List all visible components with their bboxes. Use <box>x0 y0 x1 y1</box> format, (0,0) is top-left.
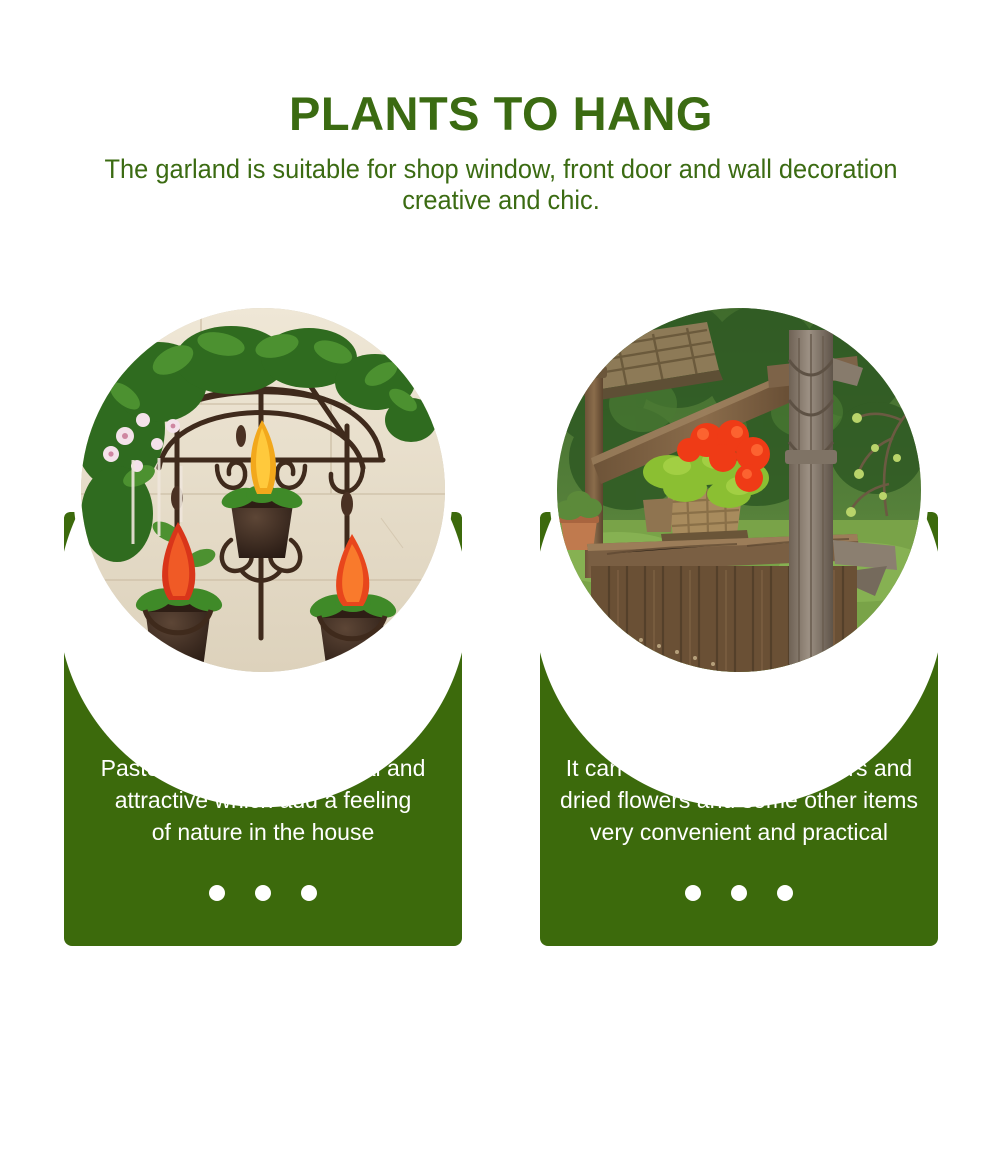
pagination-dot[interactable] <box>685 885 701 901</box>
subtitle-line-1: The garland is suitable for shop window,… <box>105 154 898 184</box>
feature-card-store-flowers: It can store both fresh flowers and drie… <box>540 300 938 946</box>
card-caption: Pastoral style, more natural and attract… <box>78 752 448 848</box>
pagination-dot[interactable] <box>777 885 793 901</box>
card-caption: It can store both fresh flowers and drie… <box>554 752 924 848</box>
header: PLANTS TO HANG The garland is suitable f… <box>0 0 1002 216</box>
subtitle-line-2: creative and chic. <box>402 185 600 215</box>
card-photo-wrought-iron-trellis <box>81 308 445 672</box>
card-panel-fill <box>540 914 938 1158</box>
caption-line-2: dried flowers and some other items <box>554 784 924 816</box>
caption-line-1: Pastoral style, more natural and <box>78 752 448 784</box>
pagination-dot[interactable] <box>301 885 317 901</box>
caption-line-3: of nature in the house <box>78 816 448 848</box>
page-subtitle: The garland is suitable for shop window,… <box>30 140 972 216</box>
pagination-dot[interactable] <box>731 885 747 901</box>
caption-line-2: attractive which add a feeling <box>78 784 448 816</box>
caption-line-1: It can store both fresh flowers and <box>554 752 924 784</box>
card-photo-wooden-railing-basket <box>557 308 921 672</box>
page-title: PLANTS TO HANG <box>0 0 1002 140</box>
pagination-dots[interactable] <box>540 885 938 901</box>
caption-line-3: very convenient and practical <box>554 816 924 848</box>
feature-card-pastoral-style: Pastoral style, more natural and attract… <box>64 300 462 946</box>
product-infographic: PLANTS TO HANG The garland is suitable f… <box>0 0 1002 1002</box>
photo-ring <box>73 300 453 680</box>
pagination-dot[interactable] <box>255 885 271 901</box>
pagination-dots[interactable] <box>64 885 462 901</box>
pagination-dot[interactable] <box>209 885 225 901</box>
photo-ring <box>549 300 929 680</box>
card-panel-fill <box>64 914 462 1158</box>
